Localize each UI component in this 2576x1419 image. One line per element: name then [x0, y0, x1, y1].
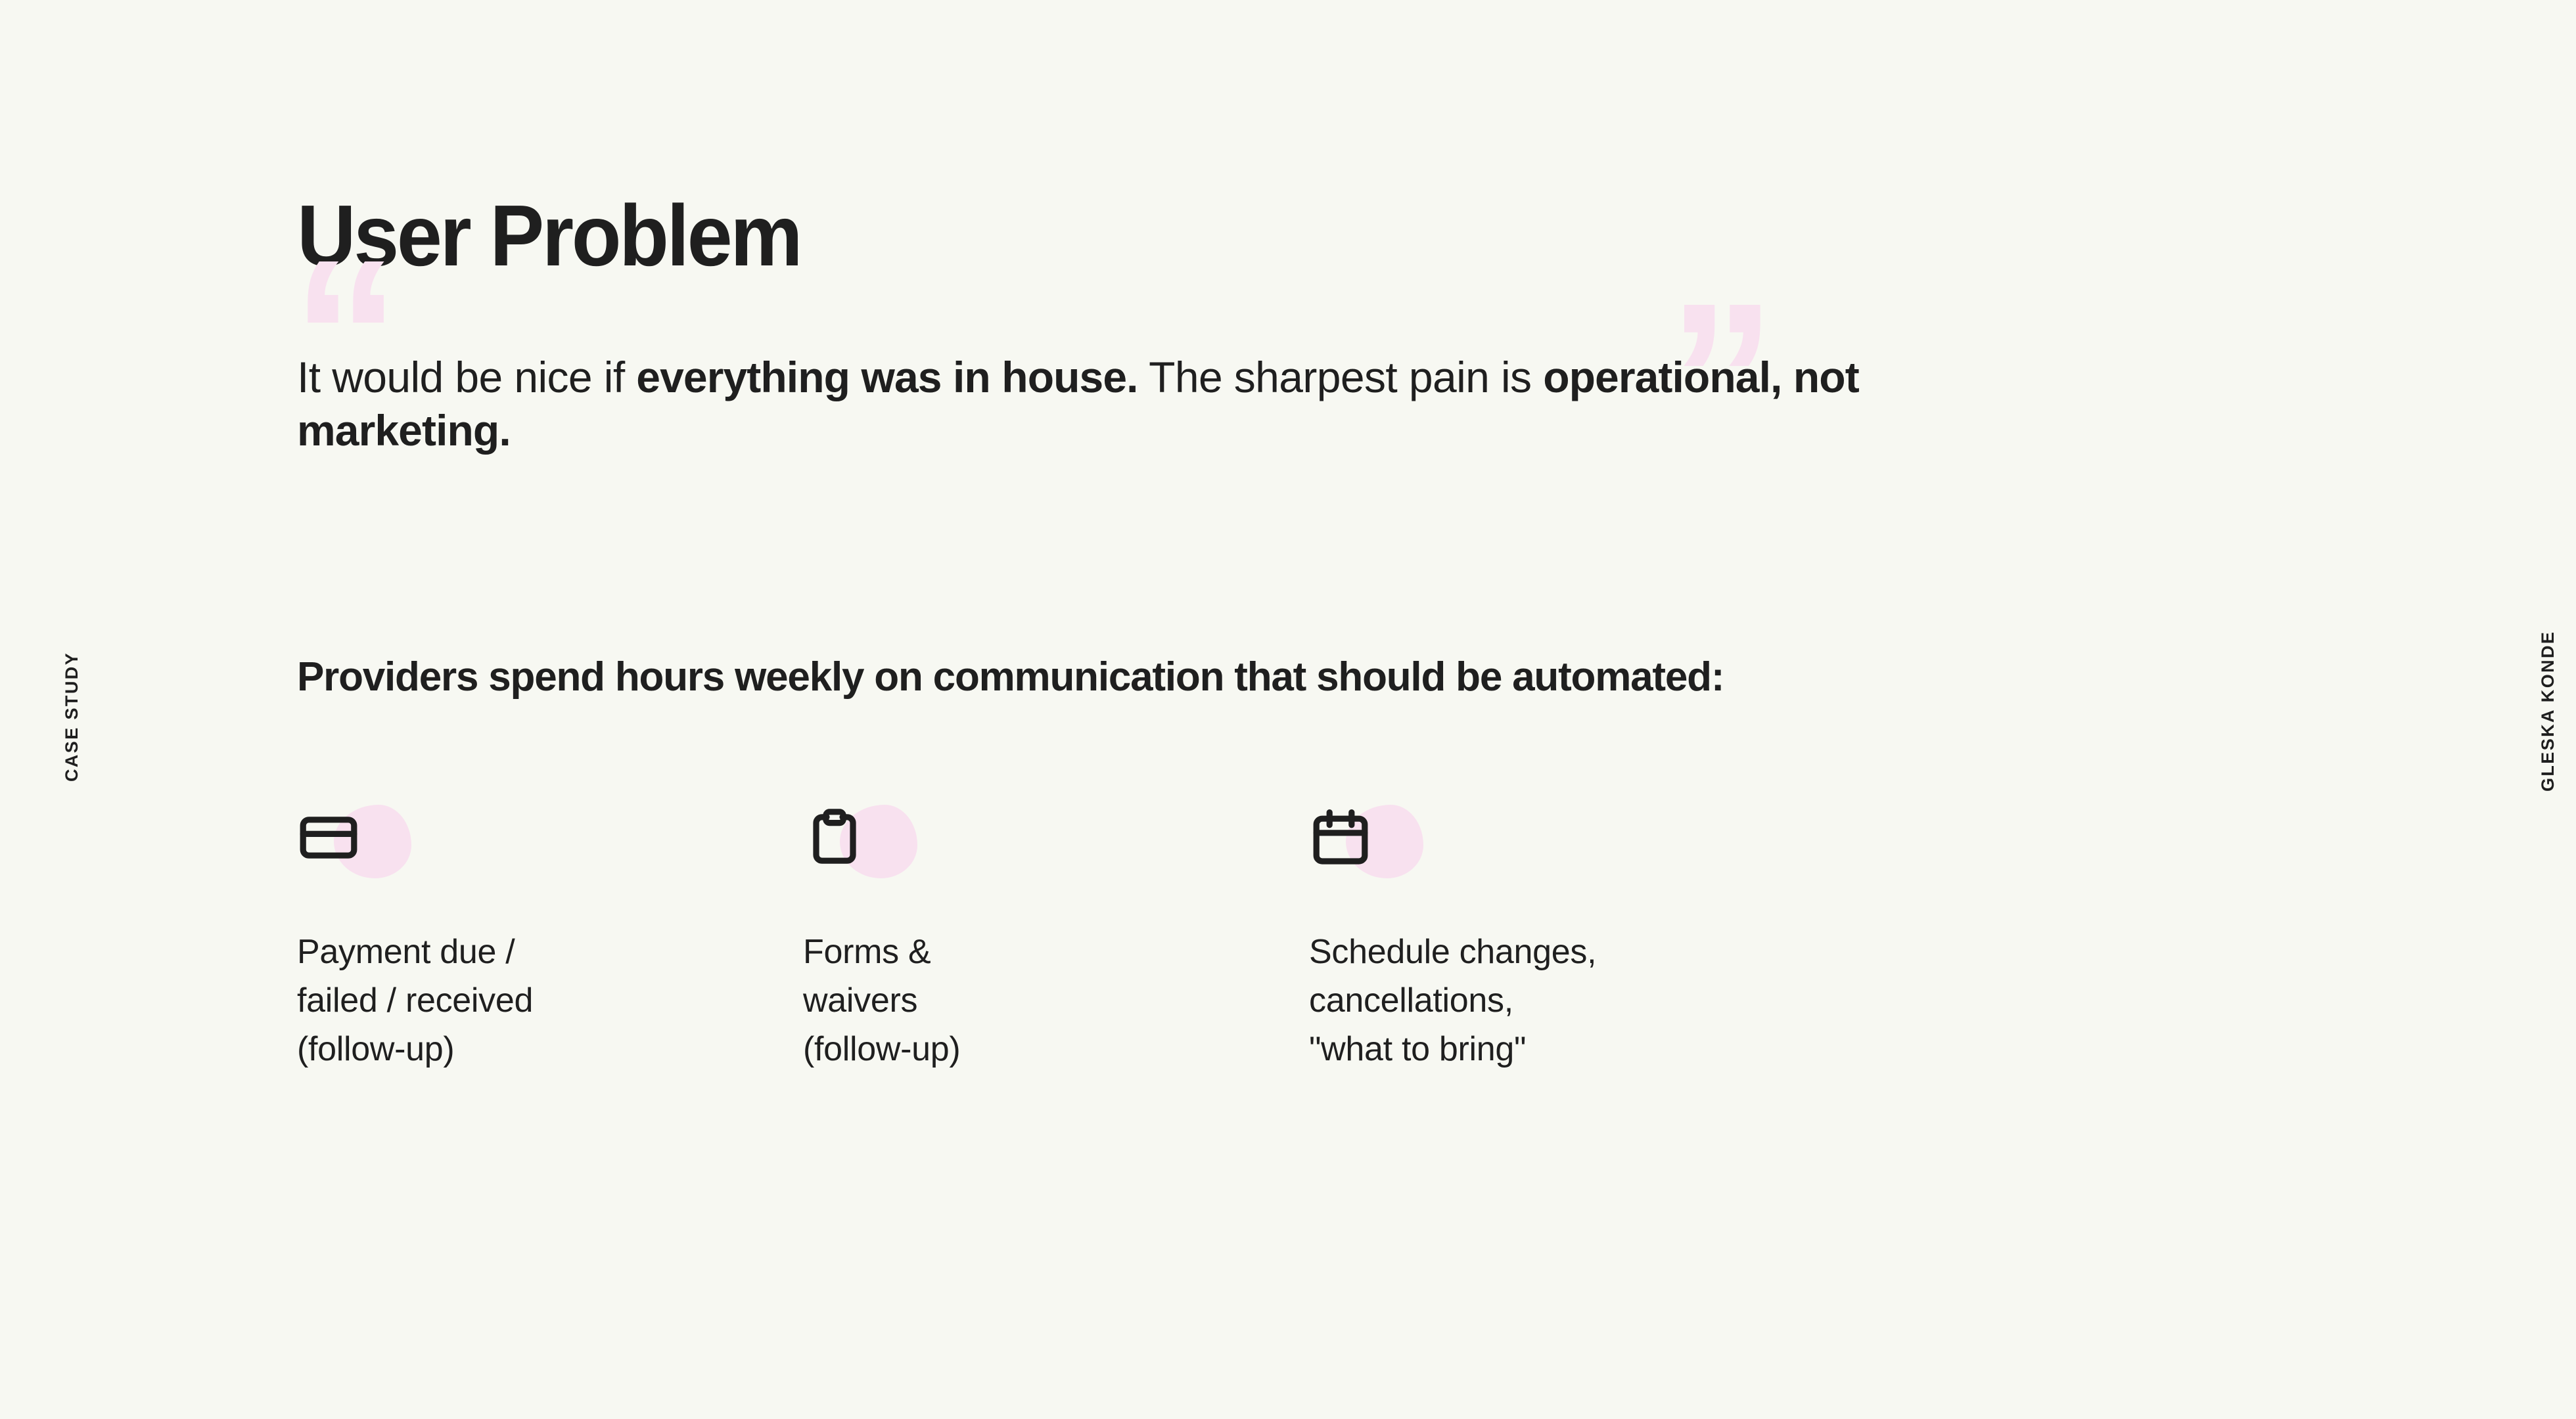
pain-point-text: Forms & waivers (follow-up): [803, 928, 1309, 1073]
credit-card-icon: [297, 806, 360, 869]
side-label-case-study: CASE STUDY: [62, 652, 82, 782]
icon-container: [1309, 798, 1440, 885]
quote-text: It would be nice if everything was in ho…: [297, 351, 1914, 457]
quote-block: “ ” It would be nice if everything was i…: [297, 307, 1953, 500]
quote-plain: It would be nice if: [297, 353, 636, 401]
icon-container: [803, 798, 934, 885]
clipboard-icon: [803, 806, 866, 869]
slide-canvas: CASE STUDY GLESKA KONDE User Problem “ ”…: [0, 0, 2576, 1419]
quote-emphasis: everything was in house.: [636, 353, 1138, 401]
pain-point-text: Payment due / failed / received (follow-…: [297, 928, 803, 1073]
quote-plain: The sharpest pain is: [1138, 353, 1544, 401]
section-heading: Providers spend hours weekly on communic…: [297, 650, 1887, 705]
pain-point-item: Schedule changes, cancellations, "what t…: [1309, 798, 1815, 1073]
side-label-brand: GLESKA KONDE: [2538, 631, 2558, 792]
pain-point-text: Schedule changes, cancellations, "what t…: [1309, 928, 1815, 1073]
pain-point-list: Payment due / failed / received (follow-…: [297, 798, 1815, 1073]
pain-point-item: Forms & waivers (follow-up): [803, 798, 1309, 1073]
icon-container: [297, 798, 428, 885]
pain-point-item: Payment due / failed / received (follow-…: [297, 798, 803, 1073]
calendar-icon: [1309, 806, 1372, 869]
